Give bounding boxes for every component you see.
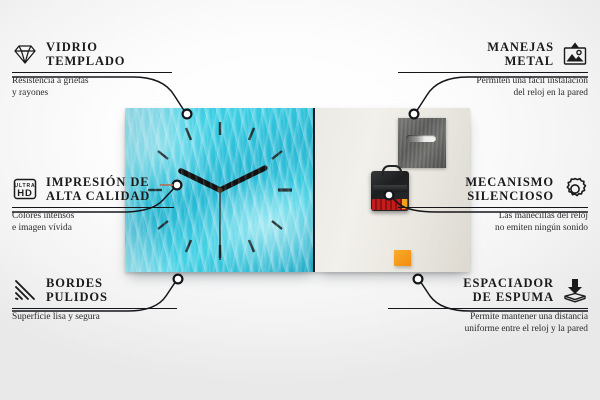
gear-icon — [562, 176, 588, 202]
feature-heading: MECANISMO SILENCIOSO — [398, 175, 588, 203]
feature-title: ESPACIADOR DE ESPUMA — [463, 276, 554, 304]
feature-bordes-pulidos[interactable]: BORDES PULIDOS Superficie lisa y segura — [12, 276, 177, 324]
callout-marker-manejas — [410, 110, 419, 119]
callout-marker-mecanismo — [385, 191, 394, 200]
feature-heading: VIDRIO TEMPLADO — [12, 40, 172, 68]
diamond-icon — [12, 41, 38, 67]
infographic-canvas: VIDRIO TEMPLADO Resistencia a grietas y … — [0, 0, 600, 400]
callout-marker-vidrio — [183, 110, 192, 119]
feature-divider — [398, 72, 588, 73]
feature-description: Colores intensos e imagen vívida — [12, 211, 174, 234]
feature-divider — [12, 72, 172, 73]
feature-divider — [12, 207, 174, 208]
feature-heading: ESPACIADOR DE ESPUMA — [388, 276, 588, 304]
feature-description: Las manecillas del reloj no emiten ningú… — [398, 211, 588, 234]
feature-title: MANEJAS METAL — [487, 40, 554, 68]
feature-heading: BORDES PULIDOS — [12, 276, 177, 304]
feature-divider — [388, 308, 588, 309]
feature-title: VIDRIO TEMPLADO — [46, 40, 125, 68]
feature-manejas-metal[interactable]: MANEJAS METAL Permiten una fácil instala… — [398, 40, 588, 99]
svg-text:HD: HD — [17, 188, 33, 199]
feature-title: BORDES PULIDOS — [46, 276, 108, 304]
feature-description: Superficie lisa y segura — [12, 312, 177, 323]
feature-heading: ultra HD IMPRESIÓN DE ALTA CALIDAD — [12, 175, 174, 203]
feature-vidrio-templado[interactable]: VIDRIO TEMPLADO Resistencia a grietas y … — [12, 40, 172, 99]
feature-description: Permite mantener una distancia uniforme … — [388, 312, 588, 335]
feature-heading: MANEJAS METAL — [398, 40, 588, 68]
feature-title: MECANISMO SILENCIOSO — [465, 175, 554, 203]
feature-mecanismo-silencioso[interactable]: MECANISMO SILENCIOSO Las manecillas del … — [398, 175, 588, 234]
ultra-hd-badge-icon: ultra HD — [12, 176, 38, 202]
feature-description: Resistencia a grietas y rayones — [12, 76, 172, 99]
feature-espaciador-espuma[interactable]: ESPACIADOR DE ESPUMA Permite mantener un… — [388, 276, 588, 335]
picture-frame-icon — [562, 41, 588, 67]
feature-divider — [12, 308, 177, 309]
polished-edge-icon — [12, 277, 38, 303]
press-down-arrow-icon — [562, 277, 588, 303]
feature-description: Permiten una fácil instalación del reloj… — [398, 76, 588, 99]
feature-impresion-alta-calidad[interactable]: ultra HD IMPRESIÓN DE ALTA CALIDAD Color… — [12, 175, 174, 234]
feature-divider — [398, 207, 588, 208]
feature-title: IMPRESIÓN DE ALTA CALIDAD — [46, 175, 150, 203]
